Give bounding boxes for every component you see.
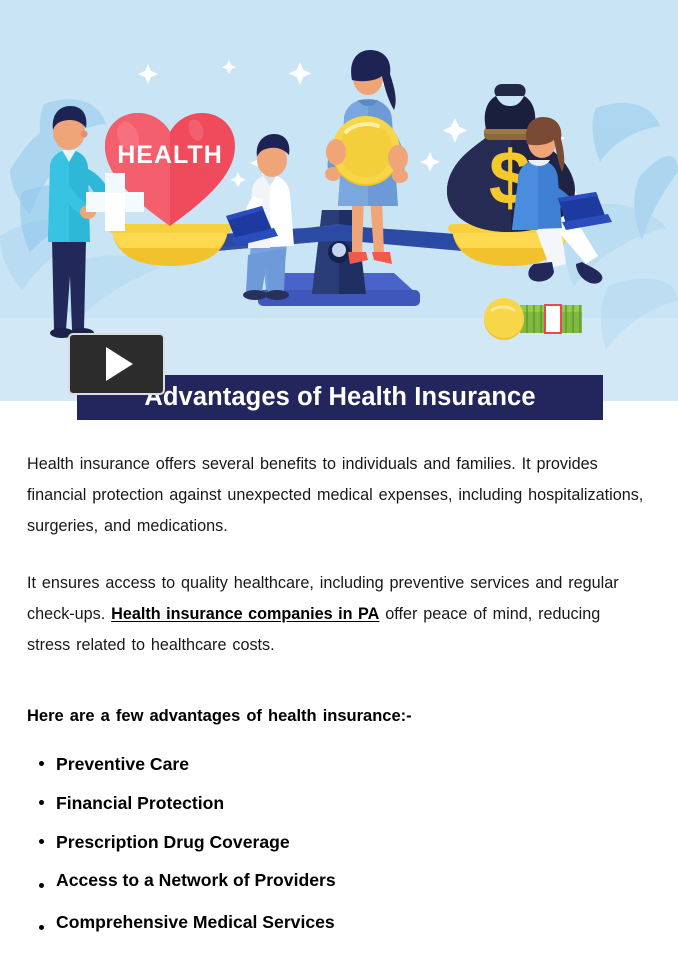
list-item-label: Access to a Network of Providers <box>56 870 336 890</box>
bullet-icon <box>39 839 44 844</box>
advantages-subheading: Here are a few advantages of health insu… <box>0 661 678 727</box>
list-item-label: Prescription Drug Coverage <box>56 832 290 852</box>
list-item: Financial Protection <box>0 793 678 813</box>
list-item: Preventive Care <box>0 754 678 774</box>
bullet-icon <box>39 800 44 805</box>
bullet-icon <box>39 883 44 888</box>
advantages-list: Preventive Care Financial Protection Pre… <box>0 754 678 932</box>
article-body: Health insurance offers several benefits… <box>0 401 678 932</box>
list-item: Prescription Drug Coverage <box>0 832 678 852</box>
bullet-icon <box>39 925 44 930</box>
page-title: Advantages of Health Insurance <box>144 383 535 412</box>
paragraph-1: Health insurance offers several benefits… <box>0 401 678 541</box>
play-icon <box>106 347 133 381</box>
list-item-label: Preventive Care <box>56 754 189 774</box>
paragraph-2: It ensures access to quality healthcare,… <box>0 541 678 660</box>
list-item: Access to a Network of Providers <box>0 870 678 890</box>
svg-text:HEALTH: HEALTH <box>117 141 223 169</box>
health-insurance-pa-link[interactable]: Health insurance companies in PA <box>111 605 379 623</box>
list-item-label: Comprehensive Medical Services <box>56 912 335 932</box>
list-item-label: Financial Protection <box>56 793 224 813</box>
list-item: Comprehensive Medical Services <box>0 912 678 932</box>
bullet-icon <box>39 761 44 766</box>
play-video-button[interactable] <box>68 333 165 395</box>
